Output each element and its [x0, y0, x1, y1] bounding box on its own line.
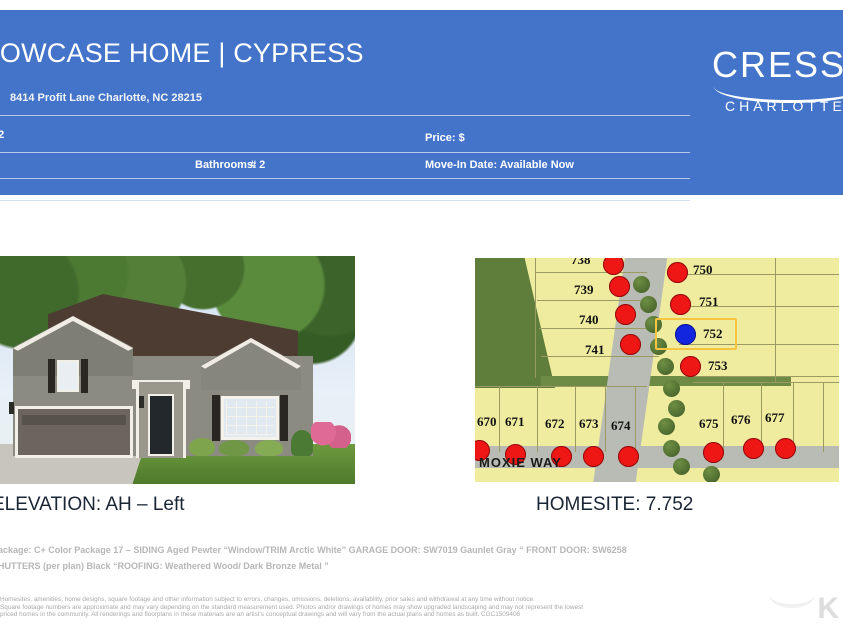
lot-line: [605, 386, 606, 452]
home-elevation-image: [0, 256, 355, 484]
divider-4: [0, 200, 690, 201]
lot-line: [539, 328, 655, 329]
window-grid: [226, 401, 274, 435]
selected-homesite-dot[interactable]: [675, 324, 696, 345]
homesite-dot[interactable]: [775, 438, 796, 459]
shrub: [255, 440, 283, 456]
homesite-dot[interactable]: [618, 446, 639, 467]
legal-disclaimer: Homesites, amenities, home designs, squa…: [0, 596, 800, 619]
shrub: [189, 438, 215, 456]
lot-number-selected: 752: [703, 326, 723, 342]
lot-line: [575, 386, 576, 452]
front-door: [148, 394, 174, 456]
hedge-tree-icon: [663, 440, 680, 457]
selected-homesite-highlight: [655, 318, 737, 350]
lot-number: 673: [579, 416, 599, 432]
lot-number: 676: [731, 412, 751, 428]
bathrooms-label: Bathrooms:: [195, 159, 257, 171]
homesite-map[interactable]: 738 739 740 741 750 751 752 753 670 671 …: [473, 256, 841, 484]
upper-window-shutter-right: [81, 359, 88, 393]
color-package-line-1: Package: C+ Color Package 17 – SIDING Ag…: [0, 542, 843, 558]
lot-number: 671: [505, 414, 525, 430]
price-value: Price: $: [425, 132, 465, 144]
disclaimer-line-1: Homesites, amenities, home designs, squa…: [0, 596, 800, 604]
homesite-dot[interactable]: [667, 262, 688, 283]
kolter-watermark: K: [763, 588, 841, 630]
lot-line: [635, 386, 636, 452]
lot-line: [537, 386, 538, 452]
homesite-caption: HOMESITE: 7.752: [536, 494, 693, 516]
property-address: 8414 Profit Lane Charlotte, NC 28215: [10, 92, 202, 104]
bay-window: [221, 396, 279, 440]
divider-2: [0, 152, 690, 153]
hedge-tree-icon: [673, 458, 690, 475]
divider-3: [0, 178, 690, 179]
lot-number: 751: [699, 294, 719, 310]
hedge-tree-icon: [657, 358, 674, 375]
color-package-note: Package: C+ Color Package 17 – SIDING Ag…: [0, 542, 843, 574]
garage-lamp-icon: [9, 402, 14, 414]
hedge-tree-icon: [703, 466, 720, 483]
watermark-letter: K: [817, 592, 839, 626]
lot-line: [683, 376, 841, 377]
garage-door: [15, 406, 133, 458]
lot-line: [499, 386, 500, 452]
flower-bed: [311, 422, 351, 448]
homesite-dot[interactable]: [670, 294, 691, 315]
homesite-dot[interactable]: [583, 446, 604, 467]
porch-lamp-icon: [139, 396, 144, 408]
lot-number: 675: [699, 416, 719, 432]
hedge-tree-icon: [663, 380, 680, 397]
upper-window-shutter-left: [48, 359, 55, 393]
upper-window: [57, 360, 79, 392]
watermark-swoosh-icon: [769, 586, 815, 608]
lot-line: [823, 382, 824, 452]
hedge-tree-icon: [640, 296, 657, 313]
elevation-caption: ELEVATION: AH – Left: [0, 494, 185, 516]
bay-window-shutter-left: [212, 395, 220, 441]
homesite-dot[interactable]: [620, 334, 641, 355]
disclaimer-line-3: priced homes in the community. All rende…: [0, 611, 800, 619]
hedge-tree-icon: [658, 418, 675, 435]
lot-number: 674: [611, 418, 631, 434]
hedge-tree-icon: [668, 400, 685, 417]
bay-window-shutter-right: [280, 395, 288, 441]
homesite-dot[interactable]: [743, 438, 764, 459]
lot-number: 741: [585, 342, 605, 358]
homesite-dot[interactable]: [609, 276, 630, 297]
lot-line: [537, 300, 651, 301]
move-in-date-value: Move-In Date: Available Now: [425, 159, 574, 171]
lot-number: 677: [765, 410, 785, 426]
shrub: [219, 440, 249, 456]
street-name-label: MOXIE WAY: [479, 455, 562, 470]
lot-number: 670: [477, 414, 497, 430]
lot-number: 750: [693, 262, 713, 278]
lot-line: [475, 386, 647, 387]
lot-number: 672: [545, 416, 565, 432]
color-package-line-2: SHUTTERS (per plan) Black “ROOFING: Weat…: [0, 558, 843, 574]
lot-line: [723, 382, 724, 452]
shrub: [291, 430, 313, 456]
lot-line: [535, 272, 647, 273]
bathrooms-value: # 2: [250, 159, 265, 171]
lot-number: 739: [574, 282, 594, 298]
lot-line: [775, 258, 776, 382]
cresswind-logo: CRESSWIND CHARLOTTE: [700, 44, 843, 119]
divider-1: [0, 115, 690, 116]
garage-window-panel: [22, 415, 126, 425]
lot-number: 740: [579, 312, 599, 328]
logo-location: CHARLOTTE: [725, 98, 843, 114]
lot-number: 753: [708, 358, 728, 374]
homesite-dot[interactable]: [615, 304, 636, 325]
lot-line: [693, 382, 841, 383]
homesite-dot[interactable]: [680, 356, 701, 377]
lot-line: [535, 258, 536, 378]
page-title: SHOWCASE HOME | CYPRESS: [0, 38, 364, 69]
slide-page: SHOWCASE HOME | CYPRESS 8414 Profit Lane…: [0, 0, 843, 632]
header-bar: SHOWCASE HOME | CYPRESS 8414 Profit Lane…: [0, 10, 843, 195]
lot-number: 738: [571, 256, 591, 268]
homesite-dot[interactable]: [703, 442, 724, 463]
disclaimer-line-2: Square footage numbers are approximate a…: [0, 604, 800, 612]
square-footage-value: 72: [0, 129, 4, 141]
hedge-tree-icon: [633, 276, 650, 293]
